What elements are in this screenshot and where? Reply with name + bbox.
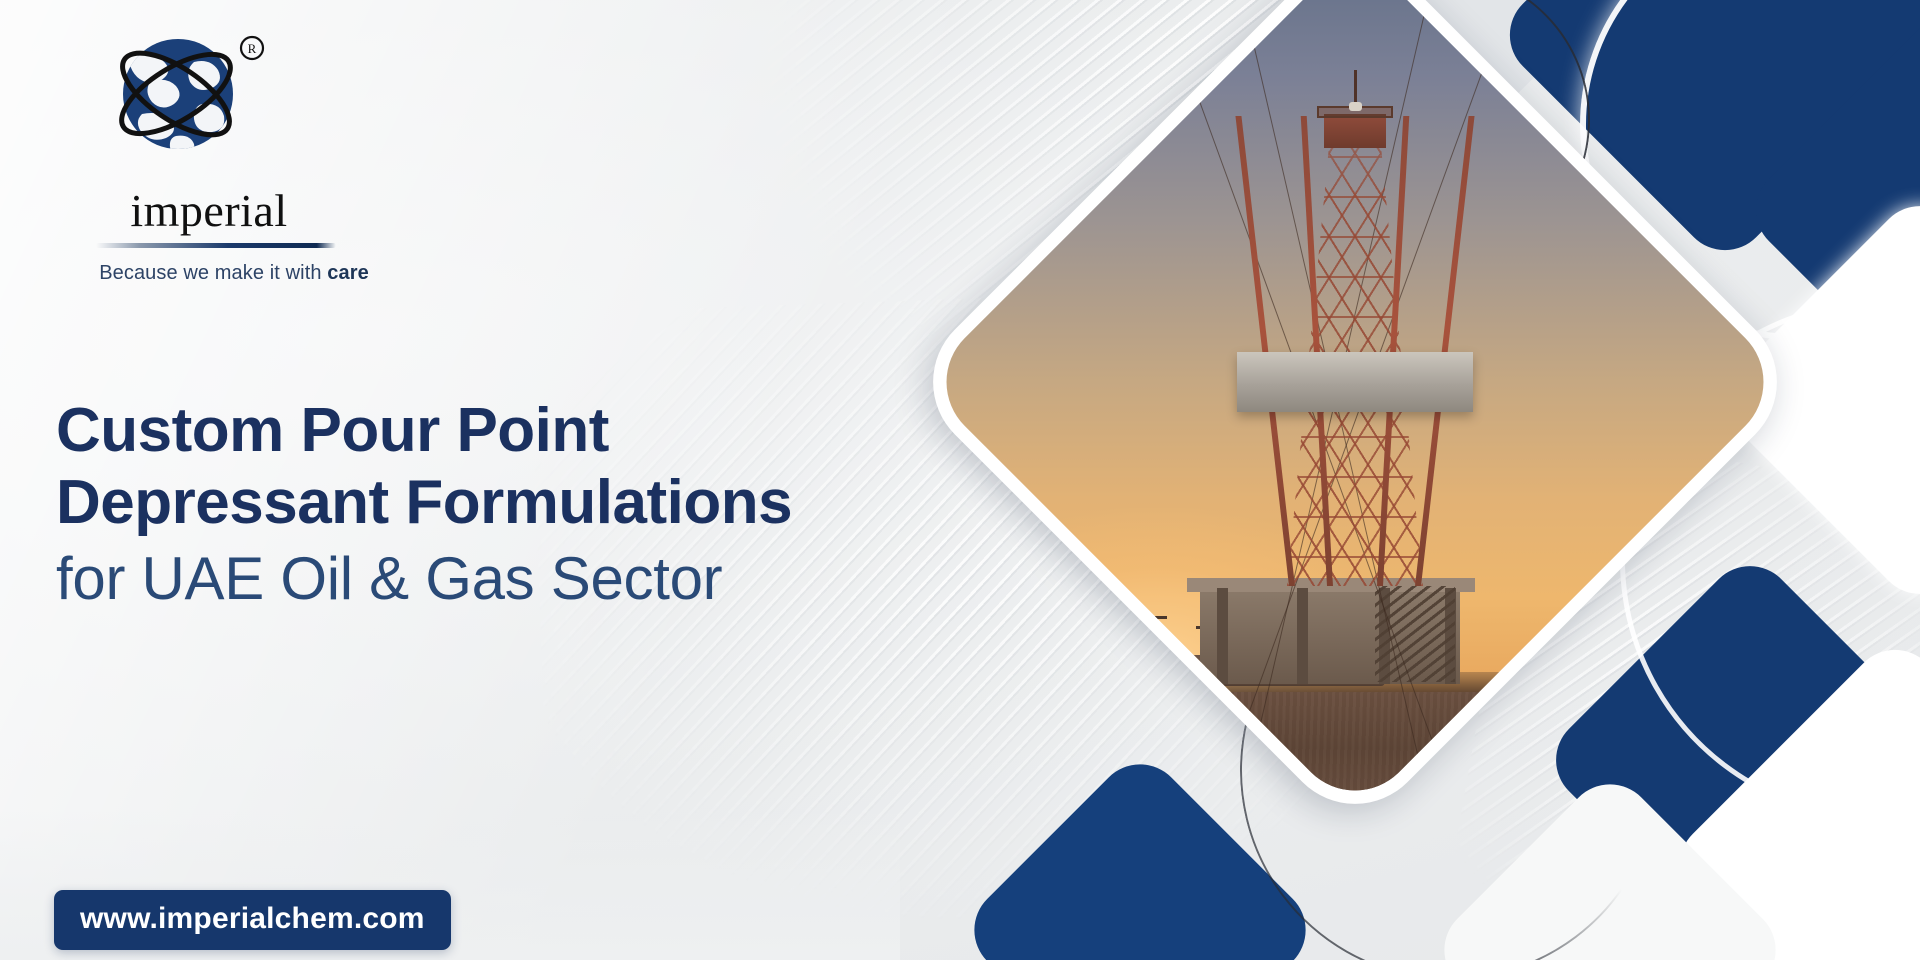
rig-stairs bbox=[1375, 586, 1455, 682]
svg-text:R: R bbox=[248, 41, 257, 56]
brand-logo-block[interactable]: R imperial Because we make it with care bbox=[84, 22, 384, 285]
headline-line-1: Custom Pour Point bbox=[56, 395, 1056, 467]
tagline-prefix: Because we make it with bbox=[99, 262, 327, 284]
brand-underline bbox=[96, 243, 336, 248]
mast-lamp bbox=[1349, 102, 1362, 111]
headline-block: Custom Pour Point Depressant Formulation… bbox=[56, 395, 1056, 615]
globe-orbit-icon: R bbox=[90, 22, 280, 182]
brand-wordmark: imperial bbox=[84, 184, 334, 237]
crown-block bbox=[1324, 114, 1386, 148]
headline-line-3: for UAE Oil & Gas Sector bbox=[56, 543, 1056, 615]
headline-line-2: Depressant Formulations bbox=[56, 467, 1056, 539]
registered-mark-icon: R bbox=[241, 37, 263, 59]
website-url-badge[interactable]: www.imperialchem.com bbox=[54, 890, 451, 950]
derrick-leg-right bbox=[1415, 116, 1475, 586]
rig-leg bbox=[1217, 588, 1228, 684]
brand-tagline: Because we make it with care bbox=[84, 262, 384, 285]
drilling-derrick bbox=[1283, 116, 1427, 586]
drawworks-housing bbox=[1237, 352, 1473, 412]
marketing-banner: R imperial Because we make it with care … bbox=[0, 0, 1920, 960]
tagline-emphasis: care bbox=[327, 262, 369, 284]
rig-leg bbox=[1297, 588, 1308, 684]
